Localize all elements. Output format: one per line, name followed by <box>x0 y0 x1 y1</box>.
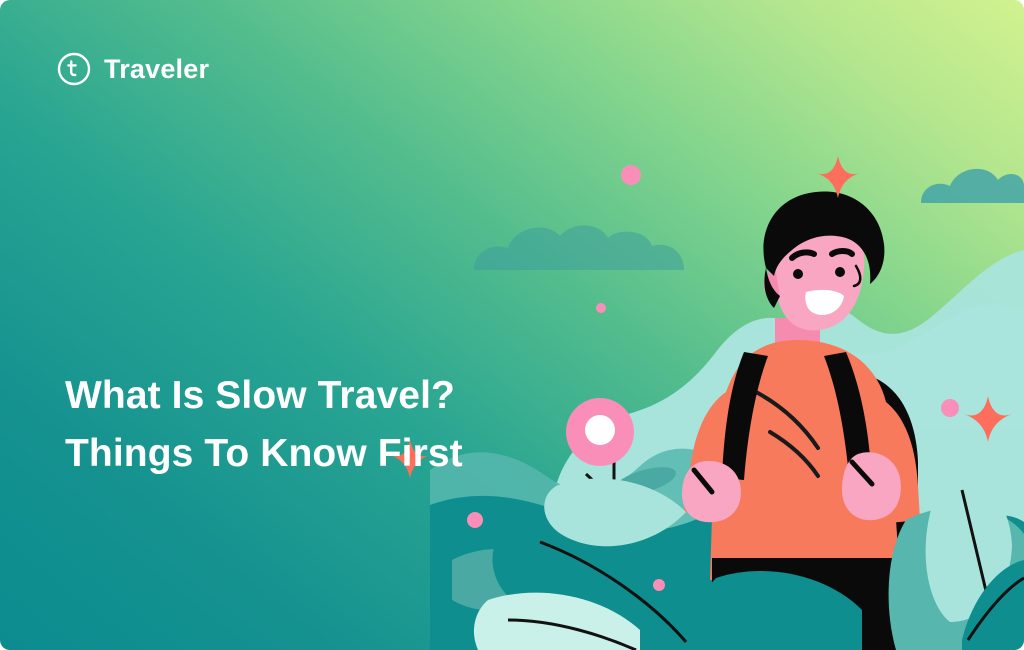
eye-left <box>793 269 803 279</box>
pink-dot-mid <box>596 303 606 313</box>
cloud-right-shape <box>921 169 1024 203</box>
eye-right <box>835 267 845 277</box>
pink-dot-lower-left <box>467 512 483 528</box>
pink-dot-right <box>941 399 959 417</box>
pink-dot-top <box>621 165 641 185</box>
page-title: What Is Slow Travel? Things To Know Firs… <box>65 367 465 483</box>
pink-dot-bottom <box>653 579 665 591</box>
cloud-left-shape <box>474 225 684 270</box>
travel-blog-hero-banner: Traveler What Is Slow Travel? Things To … <box>0 0 1024 650</box>
brand-logo[interactable]: Traveler <box>57 52 209 86</box>
brand-name: Traveler <box>104 52 209 86</box>
circled-t-logo-icon <box>57 52 91 86</box>
hero-illustration <box>0 0 1024 650</box>
